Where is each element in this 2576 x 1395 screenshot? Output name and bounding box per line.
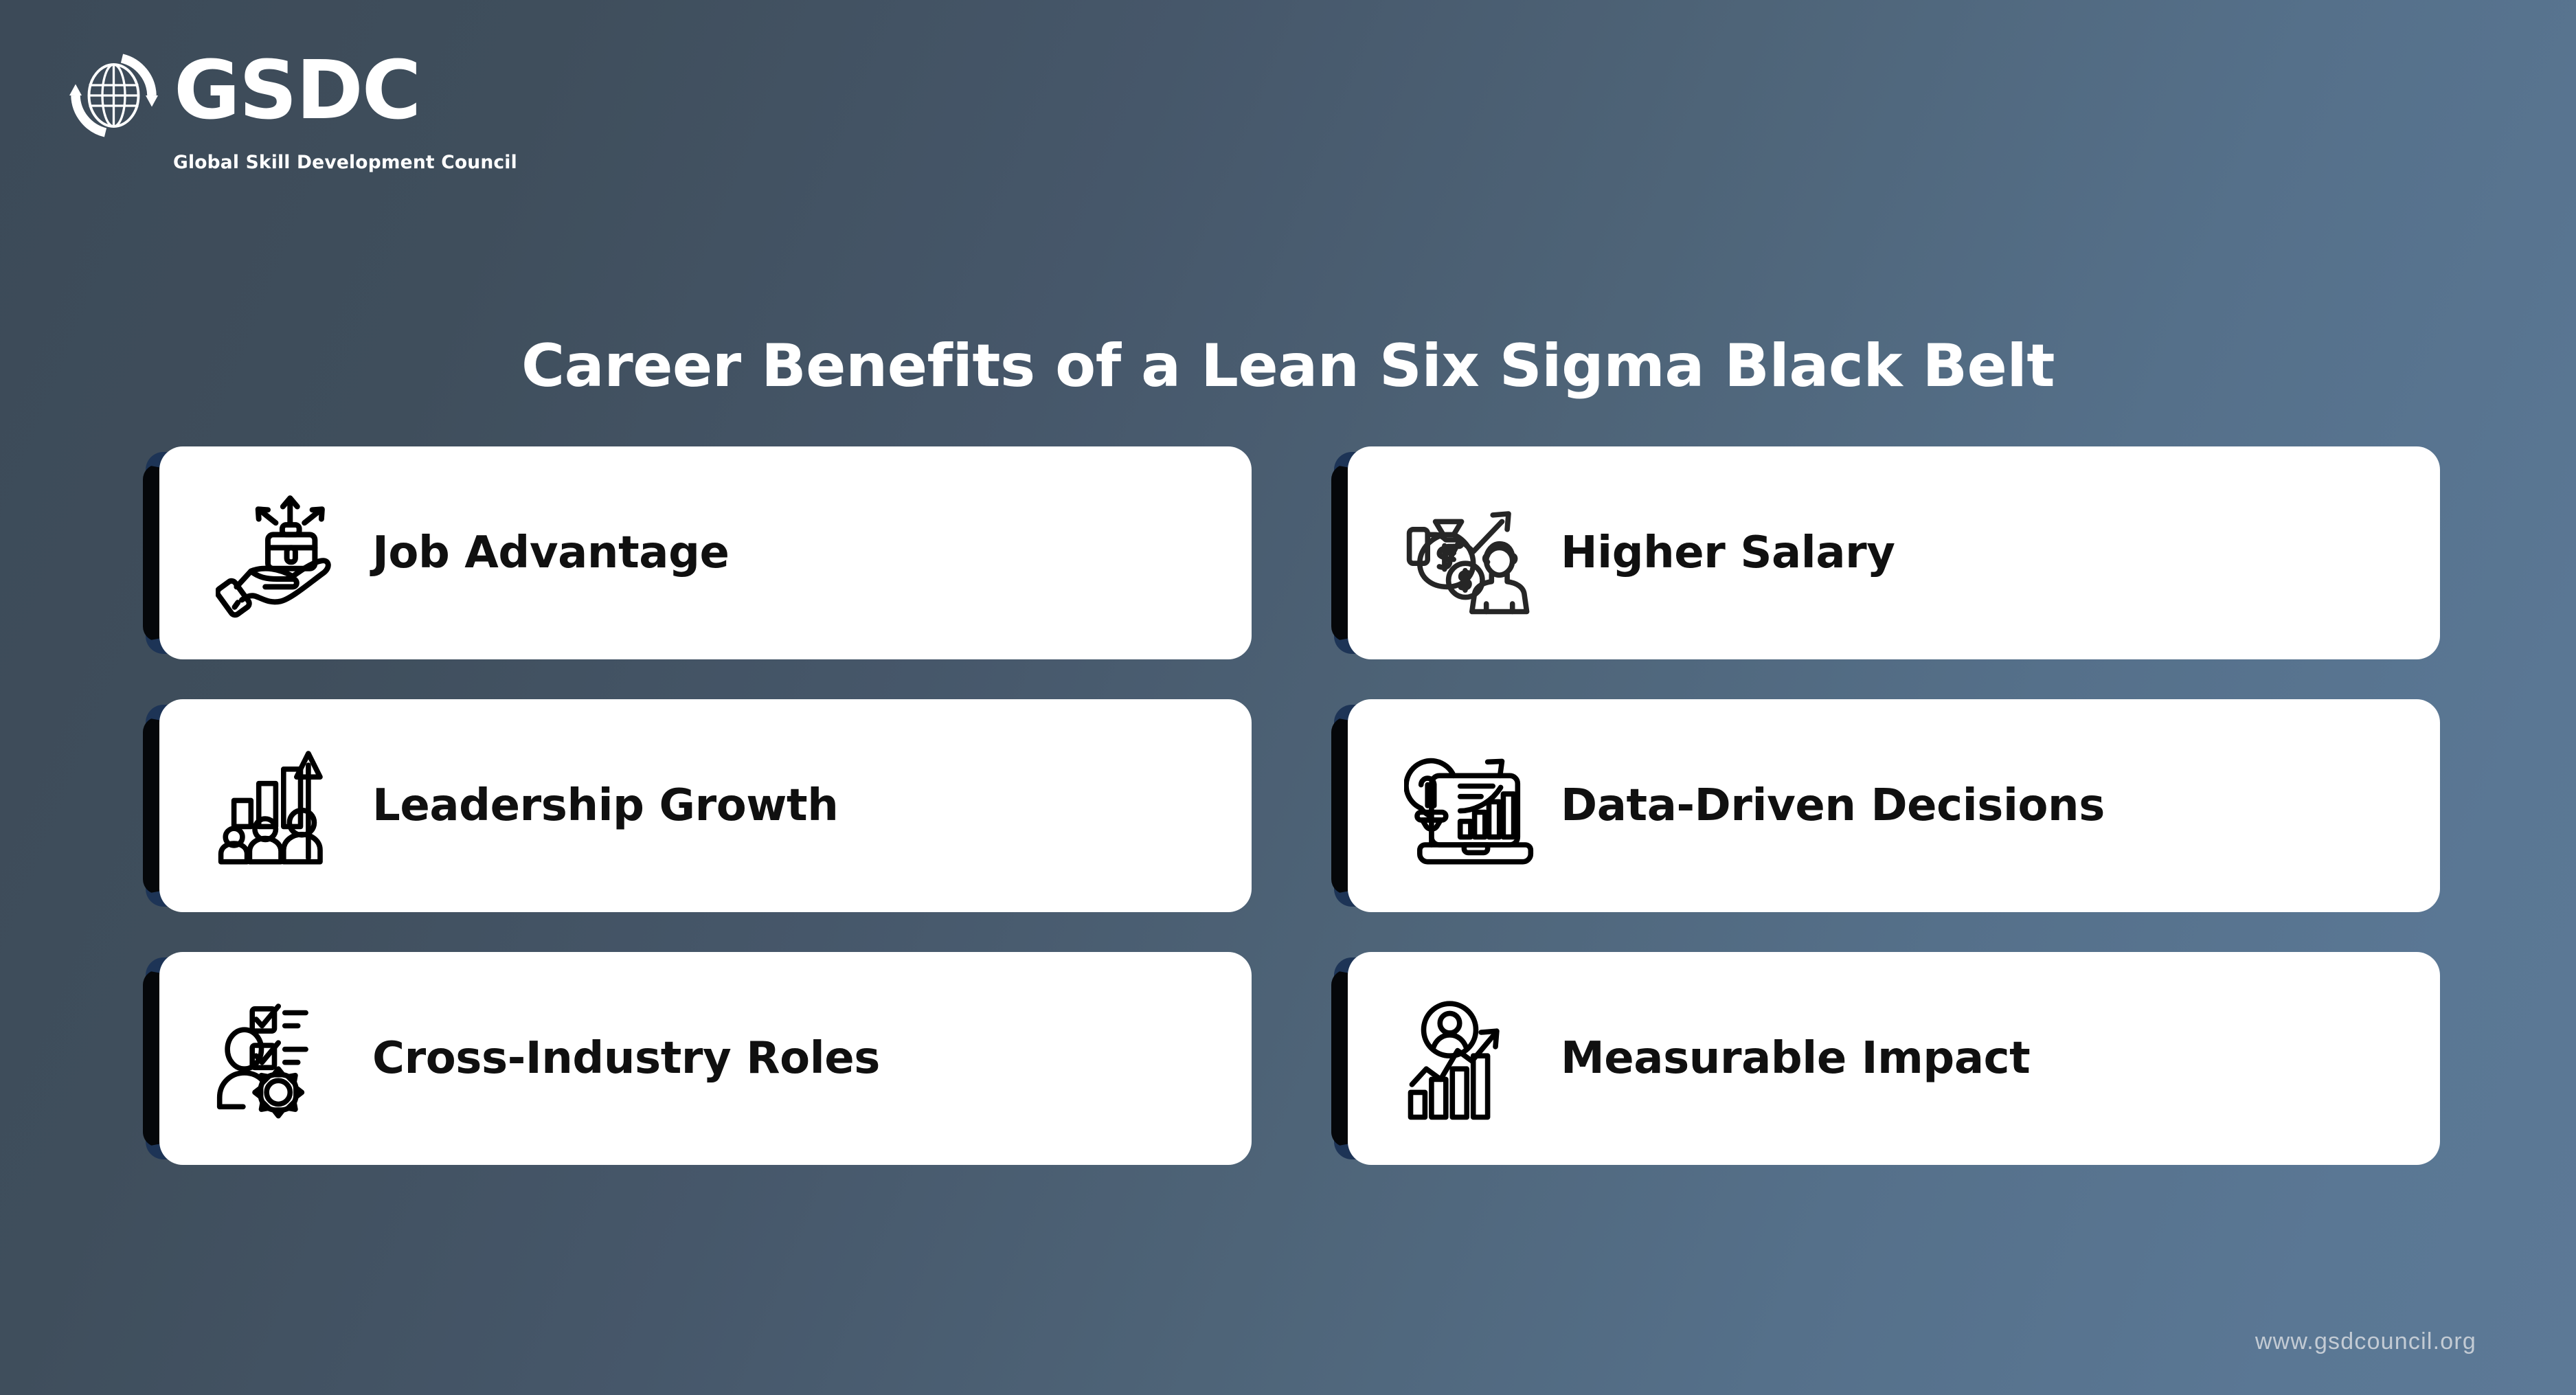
logo-wordmark: GSDC (174, 49, 420, 131)
benefit-card-label: Data-Driven Decisions (1561, 780, 2105, 831)
benefit-card-label: Measurable Impact (1561, 1033, 2030, 1084)
brand-logo: GSDC (65, 49, 420, 147)
person-checklist-gear-icon (209, 986, 353, 1131)
benefits-grid: Job Advantage (159, 446, 2440, 1165)
benefit-card-leadership-growth[interactable]: Leadership Growth (159, 699, 1252, 912)
slide-canvas: GSDC Global Skill Development Council Ca… (0, 0, 2576, 1395)
people-bar-chart-up-arrow-icon (209, 734, 353, 878)
logo-tagline: Global Skill Development Council (173, 152, 517, 173)
person-bar-chart-trend-arrow-icon (1397, 986, 1541, 1131)
benefit-card-label: Leadership Growth (372, 780, 838, 831)
benefit-card-higher-salary[interactable]: Higher Salary (1348, 446, 2440, 659)
benefit-card-measurable-impact[interactable]: Measurable Impact (1348, 952, 2440, 1165)
lightbulb-laptop-chart-icon (1397, 734, 1541, 878)
benefit-card-data-driven-decisions[interactable]: Data-Driven Decisions (1348, 699, 2440, 912)
benefit-card-job-advantage[interactable]: Job Advantage (159, 446, 1252, 659)
money-bag-coin-person-growth-arrow-icon (1397, 481, 1541, 625)
benefit-card-label: Job Advantage (372, 528, 730, 578)
benefit-card-label: Higher Salary (1561, 528, 1895, 578)
benefit-card-label: Cross-Industry Roles (372, 1033, 880, 1084)
benefit-card-cross-industry-roles[interactable]: Cross-Industry Roles (159, 952, 1252, 1165)
globe-arrows-icon (65, 44, 168, 147)
hand-holding-briefcase-arrows-icon (209, 481, 353, 625)
footer-website[interactable]: www.gsdcouncil.org (2255, 1328, 2476, 1355)
page-title: Career Benefits of a Lean Six Sigma Blac… (0, 332, 2576, 400)
